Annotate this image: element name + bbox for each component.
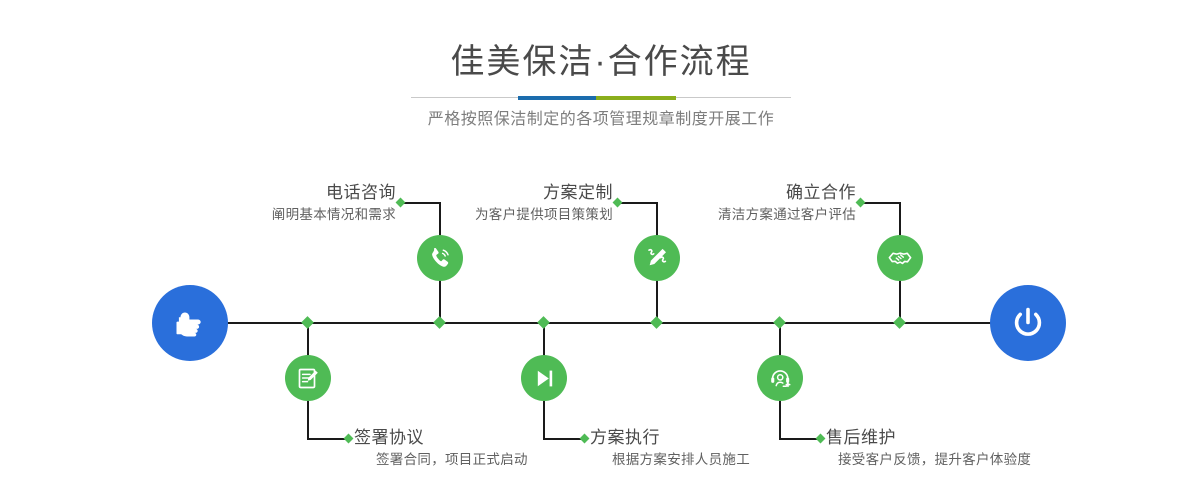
step-desc-2: 签署合同，项目正式启动 xyxy=(376,449,528,471)
customer-service-icon xyxy=(768,366,793,391)
step-icon-1[interactable] xyxy=(417,235,463,281)
step-elbow-4 xyxy=(543,438,583,440)
document-edit-icon xyxy=(296,366,321,391)
step-stem-6 xyxy=(779,401,781,439)
phone-call-icon xyxy=(427,245,453,271)
step-title-2: 签署协议 xyxy=(354,427,528,449)
step-stem-2 xyxy=(307,401,309,439)
step-elbow-2 xyxy=(307,438,347,440)
handshake-icon xyxy=(887,245,913,271)
page-header: 佳美保洁·合作流程 严格按照保洁制定的各项管理规章制度开展工作 xyxy=(0,0,1202,150)
power-icon xyxy=(1007,302,1049,344)
step-label-5: 确立合作 清洁方案通过客户评估 xyxy=(450,182,856,226)
flow-end-node[interactable] xyxy=(990,285,1066,361)
play-execute-icon xyxy=(532,366,557,391)
step-anchor-diamond-5 xyxy=(856,198,866,208)
step-icon-6[interactable] xyxy=(757,355,803,401)
step-icon-4[interactable] xyxy=(521,355,567,401)
spine-diamond-2 xyxy=(301,316,314,329)
flow-diagram: 电话咨询 阐明基本情况和需求 签署协议 签署合同，项目正式启动 xyxy=(0,150,1202,502)
spine-diamond-6 xyxy=(773,316,786,329)
step-anchor-diamond-2 xyxy=(344,434,354,444)
step-label-4: 方案执行 根据方案安排人员施工 xyxy=(590,427,750,471)
page-subtitle: 严格按照保洁制定的各项管理规章制度开展工作 xyxy=(0,108,1202,132)
step-desc-5: 清洁方案通过客户评估 xyxy=(450,204,856,226)
page-title: 佳美保洁·合作流程 xyxy=(0,40,1202,84)
step-elbow-6 xyxy=(779,438,819,440)
flow-start-node[interactable] xyxy=(152,285,228,361)
step-anchor-diamond-4 xyxy=(580,434,590,444)
spine-diamond-3 xyxy=(650,316,663,329)
divider-blue-segment xyxy=(518,96,596,100)
step-stem-4 xyxy=(543,401,545,439)
step-title-6: 售后维护 xyxy=(826,427,1031,449)
step-title-5: 确立合作 xyxy=(450,182,856,204)
spine-diamond-1 xyxy=(433,316,446,329)
spine-diamond-5 xyxy=(893,316,906,329)
step-icon-5[interactable] xyxy=(877,235,923,281)
step-label-6: 售后维护 接受客户反馈，提升客户体验度 xyxy=(826,427,1031,471)
pointing-hand-icon xyxy=(170,303,210,343)
step-desc-6: 接受客户反馈，提升客户体验度 xyxy=(838,449,1031,471)
step-icon-3[interactable] xyxy=(634,235,680,281)
step-icon-2[interactable] xyxy=(285,355,331,401)
process-flow-page: 佳美保洁·合作流程 严格按照保洁制定的各项管理规章制度开展工作 xyxy=(0,0,1202,502)
step-desc-4: 根据方案安排人员施工 xyxy=(612,449,750,471)
pencil-design-icon xyxy=(644,245,670,271)
step-anchor-diamond-6 xyxy=(816,434,826,444)
step-title-4: 方案执行 xyxy=(590,427,750,449)
divider-green-segment xyxy=(596,96,676,100)
step-elbow-5 xyxy=(861,202,901,204)
step-stem-5-upper xyxy=(899,202,901,238)
step-label-2: 签署协议 签署合同，项目正式启动 xyxy=(354,427,528,471)
title-divider xyxy=(411,96,791,100)
spine-diamond-4 xyxy=(537,316,550,329)
